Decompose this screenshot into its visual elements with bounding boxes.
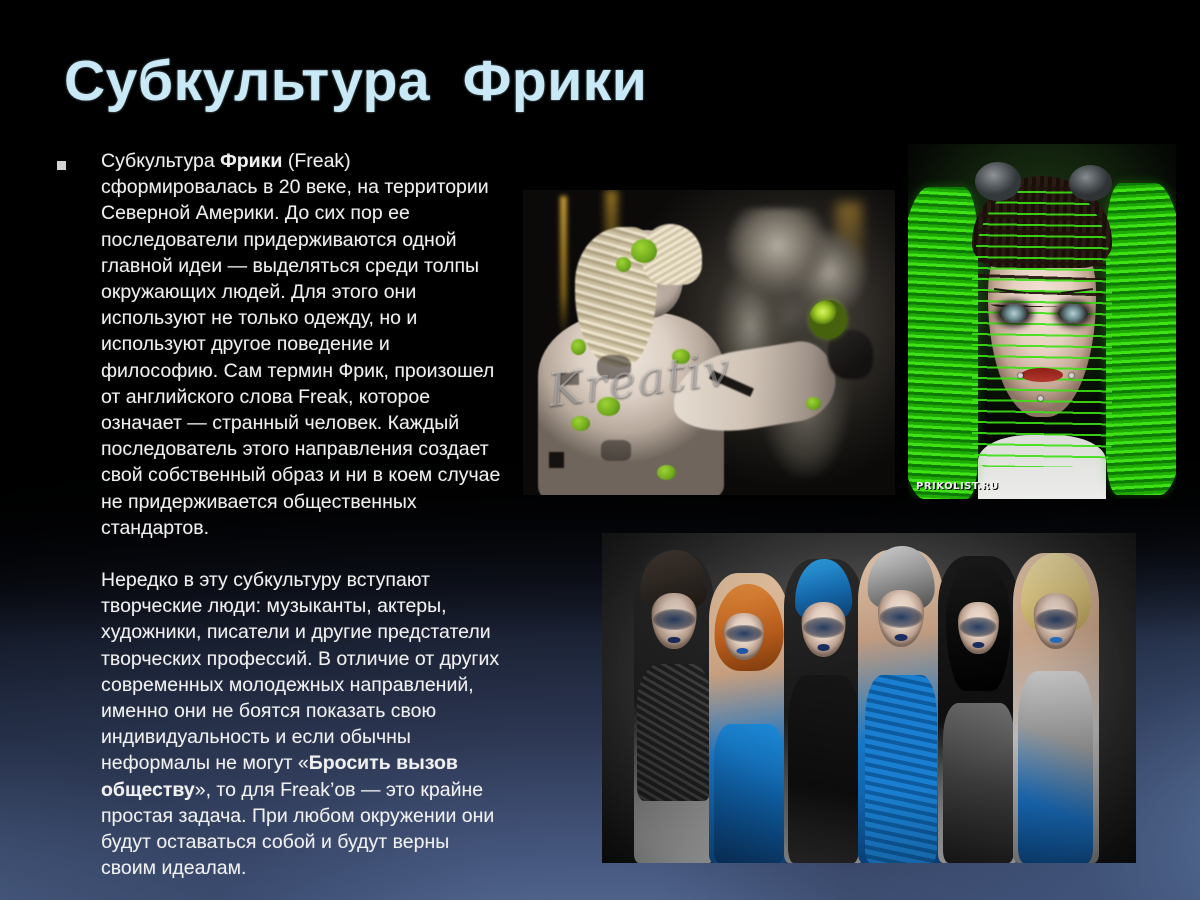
photo-man-green-spot xyxy=(597,397,619,415)
photo-goth-green-dread-fall xyxy=(1106,183,1176,495)
photo-man-green-apple xyxy=(809,300,846,340)
slide-title: Субкультура Фрики xyxy=(64,48,647,114)
photo-green-dreads-woman: PRIKOLIST.RU xyxy=(908,144,1176,499)
photo-man-tattoo xyxy=(597,355,630,379)
paragraph-2-run-1: Нередко в эту субкультуру вступают творч… xyxy=(101,569,499,774)
bullet-marker-icon xyxy=(57,161,66,170)
paragraph-1-run-2: Фрики xyxy=(220,150,282,172)
slide-body-text: Субкультура Фрики (Freak) сформировалась… xyxy=(101,148,501,881)
photo-goth-lips xyxy=(1021,368,1064,382)
photo-goth-green-dread-fall xyxy=(908,187,978,499)
photo-man-light-streak xyxy=(560,196,567,336)
photo-goth-hair-bun xyxy=(1069,165,1112,201)
photo-man-green-spot xyxy=(631,239,657,263)
photo-man-tattoo xyxy=(560,373,579,385)
photo-goth-lip-piercing xyxy=(1018,373,1023,378)
presentation-slide: Субкультура Фрики Субкультура Фрики (Fre… xyxy=(0,0,1200,900)
photo-six-models-group xyxy=(602,533,1136,863)
photo-goth-chin-piercing xyxy=(1038,396,1043,401)
paragraph-1-run-1: Субкультура xyxy=(101,150,220,172)
photo-goth-eye xyxy=(999,304,1028,324)
photo-goth-scene: PRIKOLIST.RU xyxy=(908,144,1176,499)
photo-goth-watermark: PRIKOLIST.RU xyxy=(916,481,999,492)
photo-goth-green-strands xyxy=(972,190,1111,467)
photo-goth-eye xyxy=(1058,304,1087,324)
photo-man-green-spot xyxy=(657,465,676,480)
photo-man-scene: Kreativ xyxy=(523,190,895,495)
photo-group-scene xyxy=(602,533,1136,863)
photo-body-painted-man: Kreativ xyxy=(523,190,895,495)
photo-man-tattoo xyxy=(549,452,564,467)
photo-man-green-spot xyxy=(806,397,821,409)
photo-group-vignette xyxy=(602,533,1136,863)
photo-man-tattoo xyxy=(601,440,631,461)
photo-man-green-spot xyxy=(571,416,590,431)
paragraph-1-run-3: (Freak) сформировалась в 20 веке, на тер… xyxy=(101,150,500,539)
photo-goth-hair-bun xyxy=(975,162,1021,201)
paragraph-2: Нередко в эту субкультуру вступают творч… xyxy=(101,567,501,881)
photo-man-green-spot xyxy=(672,349,691,364)
photo-man-green-spot xyxy=(571,339,586,354)
paragraph-1: Субкультура Фрики (Freak) сформировалась… xyxy=(101,148,501,541)
